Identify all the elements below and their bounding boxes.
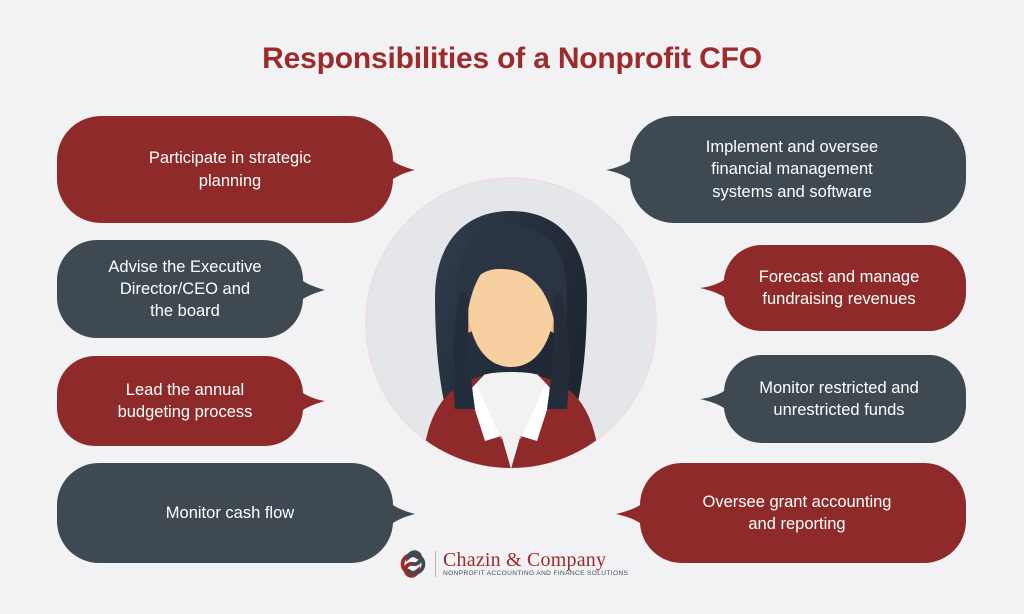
- female-cfo-avatar-illustration: [365, 177, 657, 469]
- callout-label: Monitor cash flow: [148, 502, 324, 524]
- chazin-logo-mark-icon: [398, 549, 428, 579]
- page-title: Responsibilities of a Nonprofit CFO: [0, 42, 1024, 76]
- callout-monitor-funds[interactable]: Monitor restricted and unrestricted fund…: [700, 355, 966, 443]
- callout-implement-systems[interactable]: Implement and oversee financial manageme…: [606, 116, 966, 223]
- avatar-figure: [425, 211, 597, 469]
- callout-monitor-cash-flow[interactable]: Monitor cash flow: [57, 463, 415, 563]
- callout-forecast-revenues[interactable]: Forecast and manage fundraising revenues: [700, 245, 966, 331]
- logo-wordmark: Chazin & Company: [443, 550, 628, 570]
- callout-label: Oversee grant accounting and reporting: [673, 491, 910, 536]
- logo-tagline: NONPROFIT ACCOUNTING AND FINANCE SOLUTIO…: [443, 571, 628, 578]
- callout-annual-budgeting[interactable]: Lead the annual budgeting process: [57, 356, 325, 446]
- callout-strategic-planning[interactable]: Participate in strategic planning: [57, 116, 415, 223]
- logo-text-group: Chazin & Company NONPROFIT ACCOUNTING AN…: [443, 550, 628, 578]
- callout-label: Lead the annual budgeting process: [100, 379, 283, 424]
- infographic-canvas: Responsibilities of a Nonprofit CFO Part…: [0, 0, 1024, 614]
- callout-label: Monitor restricted and unrestricted fund…: [729, 377, 937, 422]
- callout-label: Participate in strategic planning: [131, 147, 341, 192]
- logo-divider: [435, 551, 436, 577]
- callout-oversee-grants[interactable]: Oversee grant accounting and reporting: [616, 463, 966, 563]
- callout-label: Implement and oversee financial manageme…: [676, 136, 896, 203]
- callout-label: Advise the Executive Director/CEO and th…: [90, 256, 291, 323]
- brand-logo[interactable]: Chazin & Company NONPROFIT ACCOUNTING AN…: [398, 542, 630, 586]
- callout-advise-executive[interactable]: Advise the Executive Director/CEO and th…: [57, 240, 325, 338]
- callout-label: Forecast and manage fundraising revenues: [729, 266, 938, 311]
